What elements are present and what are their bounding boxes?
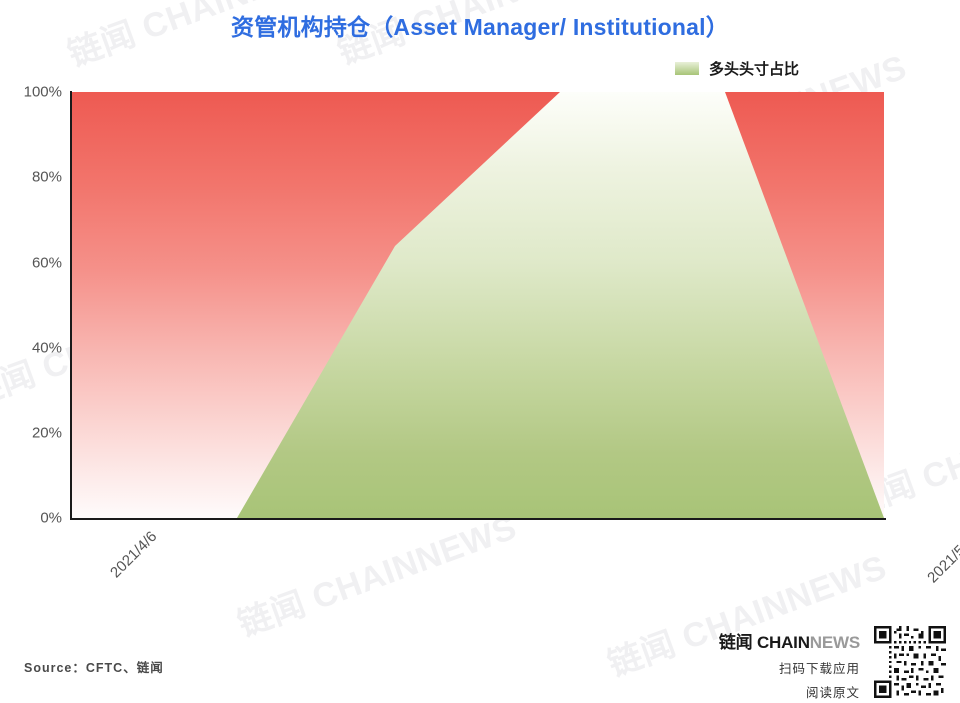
brand-block: 链闻 CHAINNEWS 扫码下载应用 阅读原文 bbox=[719, 628, 860, 701]
qr-code[interactable] bbox=[874, 626, 946, 698]
chainnews-logo: 链闻 CHAINNEWS bbox=[719, 628, 860, 653]
brand-name-chain: CHAIN bbox=[757, 633, 810, 652]
y-tick-label: 40% bbox=[0, 340, 62, 357]
chart-plot-wrapper: 100% 80% 60% 40% 20% 0% 2021/4/6 2021/ bbox=[0, 0, 960, 703]
x-tick-label-start: 2021/4/6 bbox=[107, 528, 160, 581]
legend-swatch-long-position bbox=[675, 62, 699, 75]
source-note: Source：CFTC、链闻 bbox=[24, 657, 164, 676]
brand-name-news: NEWS bbox=[810, 633, 860, 652]
plot-area bbox=[71, 92, 884, 518]
brand-tagline-download: 扫码下载应用 bbox=[719, 658, 860, 677]
y-tick-label: 60% bbox=[0, 255, 62, 272]
y-tick-label: 0% bbox=[0, 510, 62, 527]
brand-tagline-read: 阅读原文 bbox=[719, 682, 860, 701]
legend-label-long-position: 多头头寸占比 bbox=[709, 58, 799, 79]
x-tick-label-end: 2021/5/11 bbox=[924, 528, 960, 586]
y-tick-label: 20% bbox=[0, 425, 62, 442]
chart-legend: 多头头寸占比 bbox=[675, 58, 799, 79]
page-title: 资管机构持仓（Asset Manager/ Institutional） bbox=[0, 8, 960, 42]
long-position-area-series bbox=[71, 92, 884, 518]
brand-name-cn: 链闻 bbox=[719, 633, 757, 652]
x-axis-line bbox=[70, 518, 886, 520]
y-axis-line bbox=[70, 91, 72, 520]
y-tick-label: 100% bbox=[0, 84, 62, 101]
y-tick-label: 80% bbox=[0, 169, 62, 186]
